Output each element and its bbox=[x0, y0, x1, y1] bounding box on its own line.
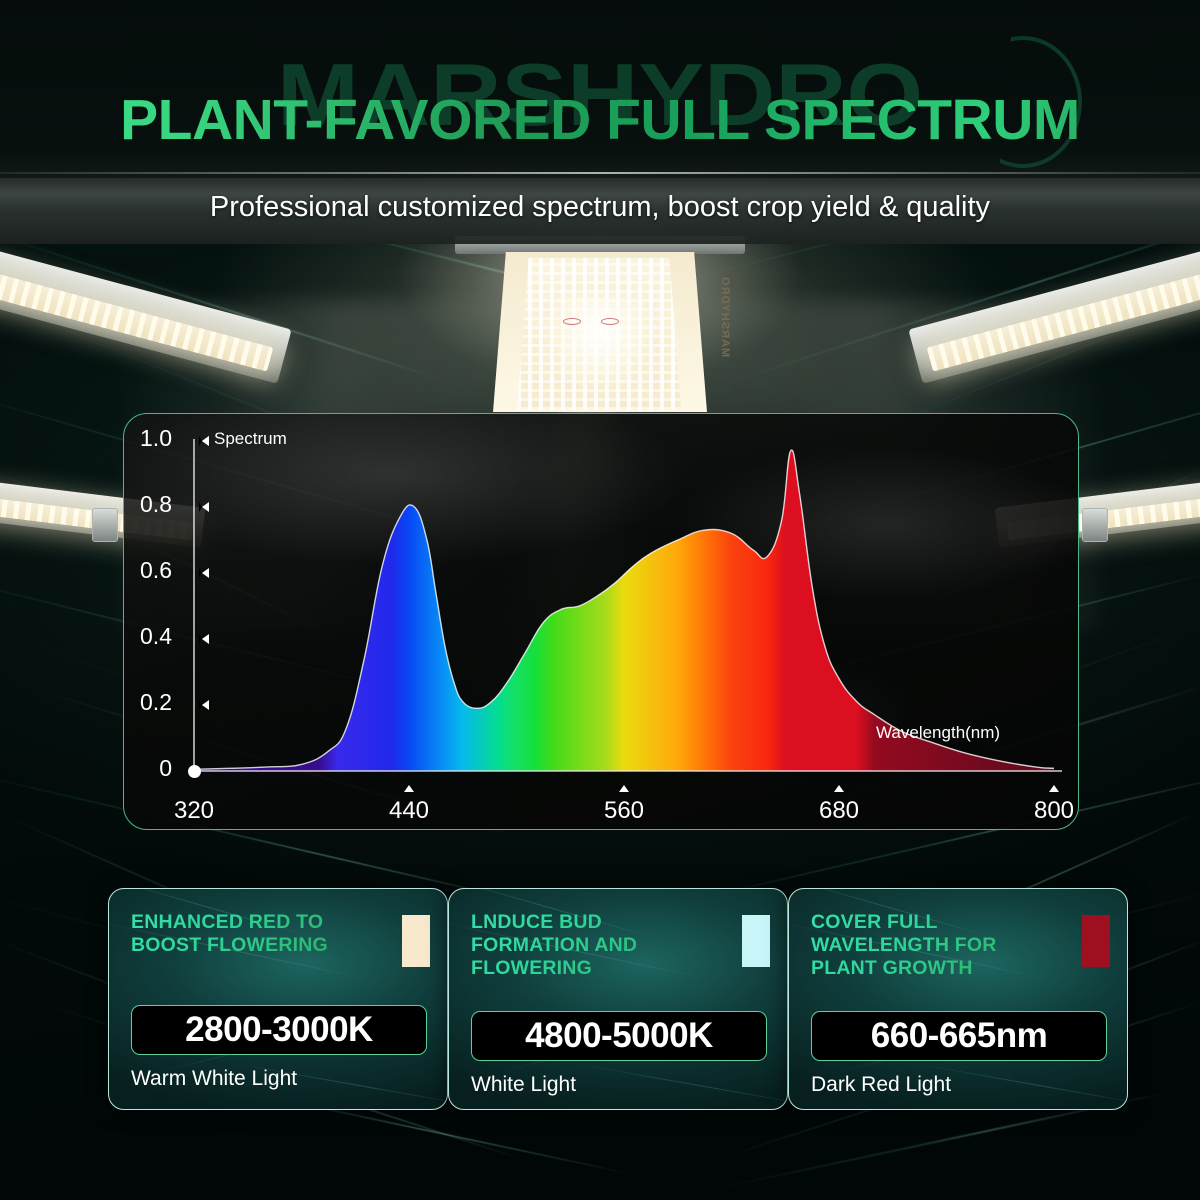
y-axis-tick-marker bbox=[199, 700, 209, 710]
y-axis-tick-marker bbox=[199, 568, 209, 578]
x-axis-tick-label: 800 bbox=[1014, 797, 1079, 825]
value-text: 660-665nm bbox=[871, 1016, 1047, 1056]
feature-card[interactable]: LNDUCE BUD FORMATION AND FLOWERING4800-5… bbox=[448, 888, 788, 1110]
card-footer-label: Dark Red Light bbox=[811, 1073, 951, 1097]
fixture-hotspot bbox=[547, 296, 651, 388]
y-axis-tick-label: 1.0 bbox=[124, 425, 172, 452]
value-text: 4800-5000K bbox=[525, 1016, 713, 1056]
feature-card-row: ENHANCED RED TO BOOST FLOWERING2800-3000… bbox=[0, 888, 1200, 1118]
red-diode-icon bbox=[563, 318, 581, 325]
page-title: PLANT-FAVORED FULL SPECTRUM bbox=[0, 92, 1200, 149]
value-badge: 660-665nm bbox=[811, 1011, 1107, 1061]
card-footer-label: White Light bbox=[471, 1073, 576, 1097]
y-axis-tick-marker bbox=[199, 502, 209, 512]
light-color-swatch bbox=[742, 915, 770, 967]
x-axis-tick-label: 440 bbox=[369, 797, 449, 825]
poster-canvas: MARSHYDRO MARSHYDRO PLANT-FAVORED FULL S… bbox=[0, 0, 1200, 1200]
y-axis-tick-label: 0.4 bbox=[124, 623, 172, 650]
card-title: COVER FULL WAVELENGTH FOR PLANT GROWTH bbox=[811, 911, 1061, 980]
card-title: LNDUCE BUD FORMATION AND FLOWERING bbox=[471, 911, 721, 980]
x-axis-tick-marker bbox=[404, 785, 414, 792]
value-badge: 2800-3000K bbox=[131, 1005, 427, 1055]
card-title: ENHANCED RED TO BOOST FLOWERING bbox=[131, 911, 381, 957]
x-axis-tick-marker bbox=[1049, 785, 1059, 792]
spectrum-chart-panel: 00.20.40.60.81.0320440560680800SpectrumW… bbox=[123, 413, 1079, 830]
y-axis-tick-marker bbox=[199, 634, 209, 644]
y-axis-tick-label: 0 bbox=[124, 755, 172, 782]
origin-marker bbox=[188, 765, 201, 778]
x-axis-tick-label: 680 bbox=[799, 797, 879, 825]
card-footer-label: Warm White Light bbox=[131, 1067, 297, 1091]
fixture-brand-label: MARSHYDRO bbox=[719, 276, 731, 357]
y-axis-title: Spectrum bbox=[214, 429, 287, 449]
x-axis-title: Wavelength(nm) bbox=[876, 723, 1000, 743]
feature-card[interactable]: ENHANCED RED TO BOOST FLOWERING2800-3000… bbox=[108, 888, 448, 1110]
value-text: 2800-3000K bbox=[185, 1010, 373, 1050]
page-subtitle: Professional customized spectrum, boost … bbox=[0, 191, 1200, 224]
mount-bracket-left bbox=[92, 508, 118, 542]
x-axis-tick-marker bbox=[619, 785, 629, 792]
y-axis-tick-label: 0.2 bbox=[124, 689, 172, 716]
feature-card[interactable]: COVER FULL WAVELENGTH FOR PLANT GROWTH66… bbox=[788, 888, 1128, 1110]
x-axis-tick-label: 560 bbox=[584, 797, 664, 825]
light-color-swatch bbox=[402, 915, 430, 967]
header-divider bbox=[0, 172, 1200, 174]
red-diode-icon bbox=[601, 318, 619, 325]
spectrum-curve-svg bbox=[124, 414, 1079, 830]
y-axis-top-marker bbox=[199, 436, 209, 446]
light-color-swatch bbox=[1082, 915, 1110, 967]
y-axis-tick-label: 0.8 bbox=[124, 491, 172, 518]
x-axis-tick-label: 320 bbox=[154, 797, 234, 825]
value-badge: 4800-5000K bbox=[471, 1011, 767, 1061]
mount-bracket-right bbox=[1082, 508, 1108, 542]
spectrum-plot: 00.20.40.60.81.0320440560680800SpectrumW… bbox=[124, 414, 1079, 830]
x-axis-tick-marker bbox=[834, 785, 844, 792]
grow-light-fixture: MARSHYDRO bbox=[455, 236, 745, 414]
y-axis-tick-label: 0.6 bbox=[124, 557, 172, 584]
